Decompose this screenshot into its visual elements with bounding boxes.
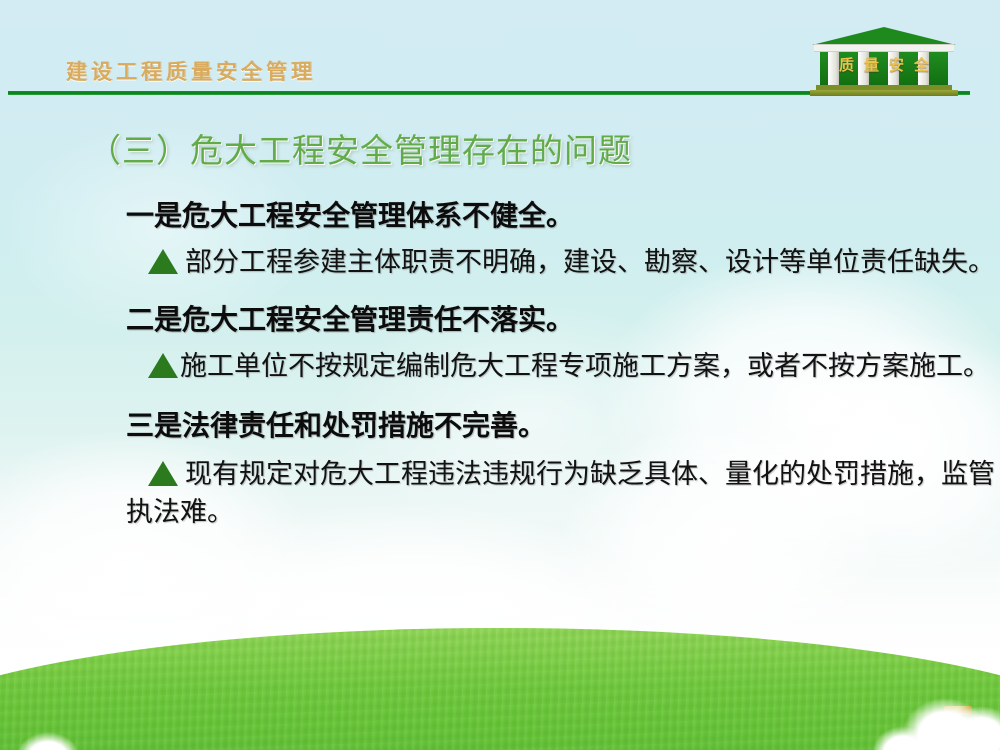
slide-header: 建设工程质量安全管理 质量安全 [0,0,1000,100]
group-detail-text: 现有规定对危大工程违法违规行为缺乏具体、量化的处罚措施，监管执法难。 [126,459,995,527]
logo-plinth-icon [810,90,958,96]
triangle-bullet-icon [148,353,178,378]
quality-safety-temple-logo-icon: 质量安全 [808,27,960,97]
group-heading: 三是法律责任和处罚措施不完善。 [0,408,1000,446]
content-group: 一是危大工程安全管理体系不健全。 部分工程参建主体职责不明确，建设、勘察、设计等… [0,198,1000,282]
slide-body: 一是危大工程安全管理体系不健全。 部分工程参建主体职责不明确，建设、勘察、设计等… [0,198,1000,537]
content-group: 二是危大工程安全管理责任不落实。 施工单位不按规定编制危大工程专项施工方案，或者… [0,302,1000,386]
triangle-bullet-icon [148,249,178,274]
group-detail-paragraph: 施工单位不按规定编制危大工程专项施工方案，或者不按方案施工。 [0,348,1000,386]
group-heading: 一是危大工程安全管理体系不健全。 [0,198,1000,236]
triangle-bullet-icon [148,461,178,486]
grass-texture [0,628,1000,750]
group-heading: 二是危大工程安全管理责任不落实。 [0,302,1000,340]
group-detail-paragraph: 部分工程参建主体职责不明确，建设、勘察、设计等单位责任缺失。 [0,244,1000,282]
grass-field [0,620,1000,750]
section-title: （三）危大工程安全管理存在的问题 [88,133,632,173]
group-detail-paragraph: 现有规定对危大工程违法违规行为缺乏具体、量化的处罚措施，监管执法难。 [0,456,1000,532]
content-group: 三是法律责任和处罚措施不完善。 现有规定对危大工程违法违规行为缺乏具体、量化的处… [0,408,1000,532]
logo-roof-icon [812,27,956,45]
header-title: 建设工程质量安全管理 [66,62,316,83]
group-detail-text: 施工单位不按规定编制危大工程专项施工方案，或者不按方案施工。 [180,351,990,381]
logo-entablature-icon [814,44,954,52]
slide-canvas: 建设工程质量安全管理 质量安全 （三）危大工程安全管理存在的问题 一是危大工程安… [0,0,1000,750]
logo-label: 质量安全 [822,58,946,73]
group-detail-text: 部分工程参建主体职责不明确，建设、勘察、设计等单位责任缺失。 [185,247,995,277]
